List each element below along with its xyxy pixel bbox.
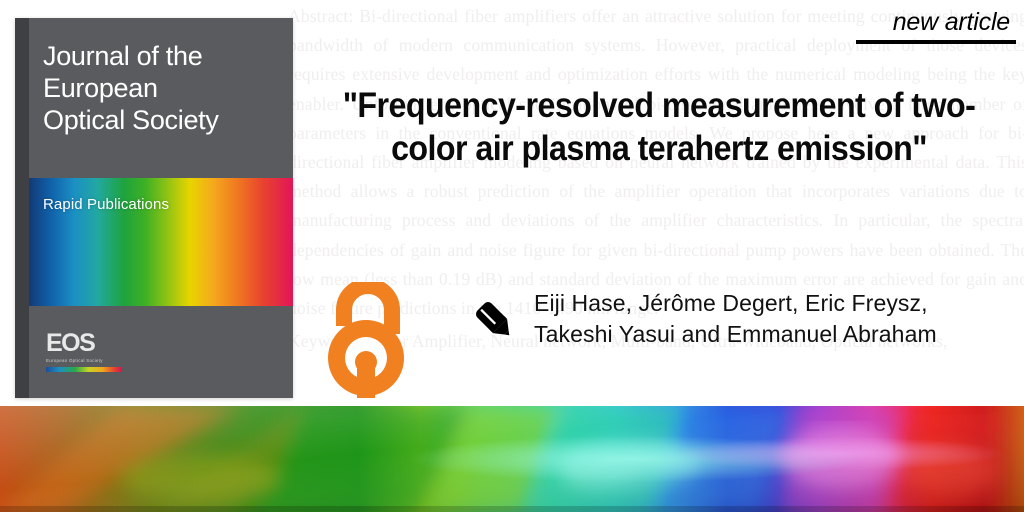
journal-cover-spine xyxy=(15,18,29,398)
open-access-padlock-icon xyxy=(316,282,420,398)
article-headline: "Frequency-resolved measurement of two-c… xyxy=(329,84,990,170)
authors-row: Eiji Hase, Jérôme Degert, Eric Freysz, T… xyxy=(470,288,1004,350)
plasma-photo-strip xyxy=(0,406,1024,512)
pen-icon xyxy=(470,296,516,342)
eos-logo-fullname: European Optical Society xyxy=(46,357,138,364)
journal-cover-title-line-2: European xyxy=(43,72,283,104)
article-promo-card: Abstract: Bi-directional fiber amplifier… xyxy=(0,0,1024,512)
eos-logo: EOS European Optical Society xyxy=(46,330,138,372)
journal-cover-title-line-1: Journal of the xyxy=(43,40,283,72)
new-article-underline xyxy=(856,40,1016,44)
eos-logo-spectrum-bar xyxy=(46,367,122,372)
authors-list: Eiji Hase, Jérôme Degert, Eric Freysz, T… xyxy=(534,288,1004,350)
new-article-badge: new article xyxy=(856,8,1016,44)
eos-logo-wordmark: EOS xyxy=(46,330,138,356)
journal-cover-title-line-3: Optical Society xyxy=(43,104,283,136)
journal-cover[interactable]: Journal of the European Optical Society … xyxy=(15,18,293,398)
journal-cover-title: Journal of the European Optical Society xyxy=(43,40,283,136)
journal-cover-subtitle: Rapid Publications xyxy=(43,196,169,213)
new-article-label: new article xyxy=(856,8,1016,40)
